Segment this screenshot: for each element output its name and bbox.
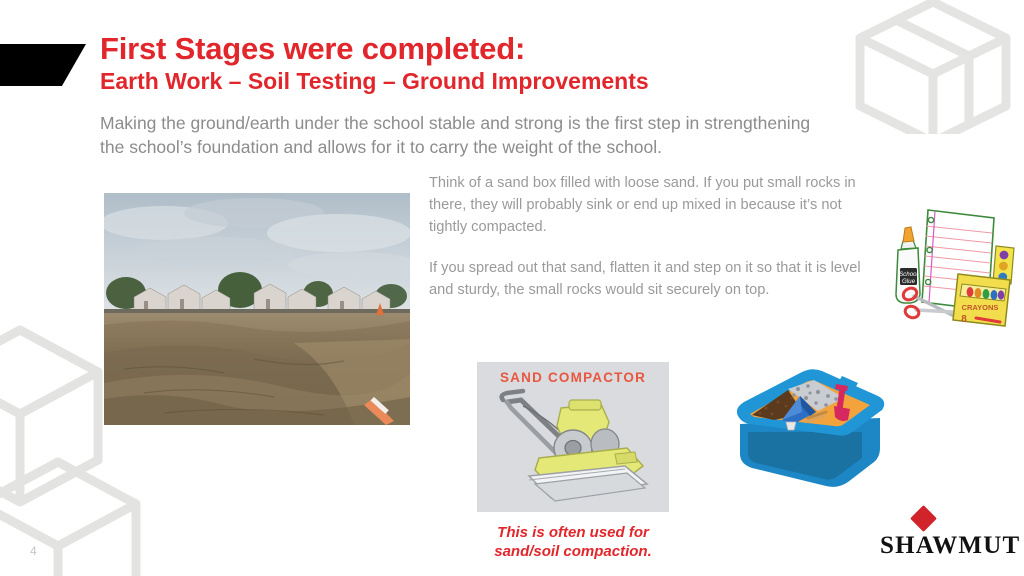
body-copy: Think of a sand box filled with loose sa… — [429, 173, 861, 301]
glue-label-line-1: School — [899, 271, 919, 278]
crayons-count: 8 — [961, 314, 967, 325]
sandbox-clipart — [722, 362, 888, 490]
page-title: First Stages were completed: — [100, 32, 860, 67]
caption-line-1: This is often used for — [477, 524, 669, 543]
crayons-label: CRAYONS — [962, 303, 999, 312]
caption-line-2: sand/soil compaction. — [477, 543, 669, 562]
excavation-site-photo — [104, 193, 410, 425]
diamond-icon — [910, 505, 937, 532]
body-paragraph-2: If you spread out that sand, flatten it … — [429, 258, 861, 302]
page-subtitle: Earth Work – Soil Testing – Ground Impro… — [100, 68, 860, 96]
accent-flag-shape — [0, 44, 86, 86]
brand-wordmark: SHAWMUT — [880, 533, 1002, 558]
shawmut-logo: SHAWMUT — [880, 509, 1002, 558]
cube-outline-icon — [838, 0, 1024, 134]
sand-compactor-figure: SAND COMPACTOR — [477, 362, 669, 562]
sand-compactor-caption: This is often used for sand/soil compact… — [477, 524, 669, 562]
slide-canvas: First Stages were completed: Earth Work … — [0, 0, 1024, 576]
glue-label-line-2: Glue — [902, 278, 916, 285]
sand-compactor-image: SAND COMPACTOR — [477, 362, 669, 512]
slide-number: 4 — [30, 544, 37, 558]
intro-paragraph: Making the ground/earth under the school… — [100, 112, 820, 159]
title-block: First Stages were completed: Earth Work … — [100, 32, 860, 95]
school-supplies-clipart: School Glue CRAYONS 8 — [884, 198, 1022, 338]
body-paragraph-1: Think of a sand box filled with loose sa… — [429, 173, 861, 239]
